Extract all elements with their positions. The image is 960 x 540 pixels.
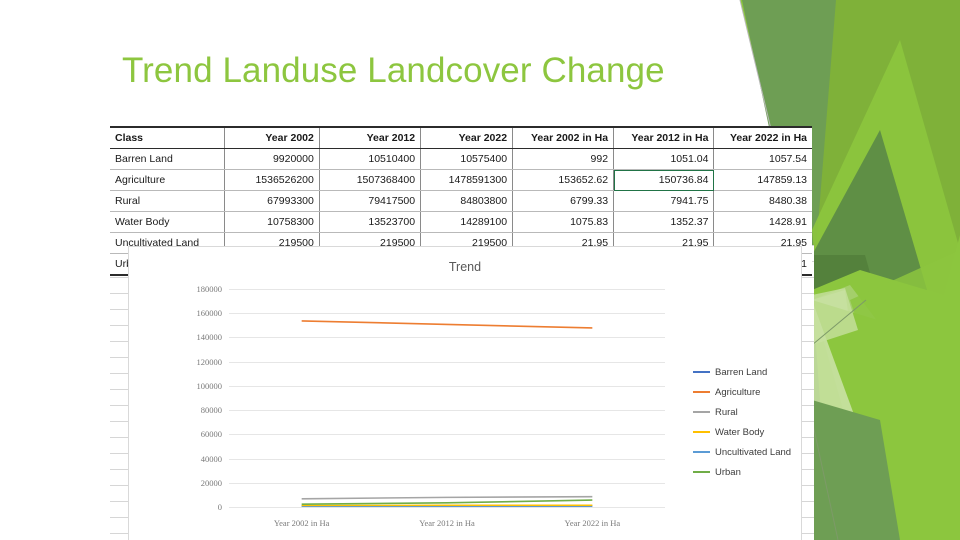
deco-shape-4	[812, 40, 960, 540]
table-cell-class[interactable]: Rural	[110, 191, 224, 212]
worksheet-row-line	[110, 533, 128, 534]
chart-gridline	[229, 386, 665, 387]
worksheet-row-line	[800, 277, 814, 278]
table-cell-y2022ha[interactable]: 8480.38	[714, 191, 812, 212]
table-cell-y2002[interactable]: 9920000	[224, 149, 319, 170]
deco-shape-6	[812, 255, 900, 540]
table-cell-y2022ha[interactable]: 147859.13	[714, 170, 812, 191]
legend-swatch-icon	[693, 471, 710, 473]
chart-gridline	[229, 362, 665, 363]
legend-label: Urban	[715, 467, 741, 478]
y-axis-tick-label: 60000	[201, 429, 222, 439]
worksheet-strip-left[interactable]	[110, 245, 128, 540]
table-cell-y2022ha[interactable]: 1428.91	[714, 212, 812, 233]
y-axis-tick-label: 80000	[201, 405, 222, 415]
legend-item[interactable]: Agriculture	[693, 382, 797, 402]
trend-line-chart[interactable]: Trend 0200004000060000800001000001200001…	[128, 246, 802, 540]
legend-swatch-icon	[693, 391, 710, 393]
table-cell-y2022[interactable]: 1478591300	[421, 170, 513, 191]
table-cell-y2002ha[interactable]: 153652.62	[513, 170, 614, 191]
worksheet-row-line	[110, 373, 128, 374]
deco-shape-10	[812, 300, 960, 540]
table-cell-y2012ha[interactable]: 7941.75	[614, 191, 714, 212]
col-header-year-2002[interactable]: Year 2002	[224, 127, 319, 149]
presentation-slide: Trend Landuse Landcover Change Class Yea…	[0, 0, 960, 540]
worksheet-row-line	[800, 453, 814, 454]
page-title: Trend Landuse Landcover Change	[122, 50, 665, 92]
table-cell-selected[interactable]: 150736.84	[614, 170, 714, 191]
chart-gridline	[229, 459, 665, 460]
table-row[interactable]: Barren Land99200001051040010575400992105…	[110, 149, 812, 170]
chart-series-line-urban	[302, 500, 593, 504]
legend-swatch-icon	[693, 371, 710, 373]
worksheet-row-line	[800, 533, 814, 534]
chart-series-line-agriculture	[302, 321, 593, 328]
chart-plot-area: 0200004000060000800001000001200001400001…	[229, 289, 665, 507]
table-cell-y2002[interactable]: 10758300	[224, 212, 319, 233]
table-row[interactable]: Agriculture15365262001507368400147859130…	[110, 170, 812, 191]
legend-label: Uncultivated Land	[715, 447, 791, 458]
worksheet-row-line	[800, 293, 814, 294]
deco-hairline-3	[812, 420, 838, 540]
worksheet-row-line	[800, 357, 814, 358]
worksheet-row-line	[800, 517, 814, 518]
worksheet-row-line	[800, 501, 814, 502]
table-cell-class[interactable]: Barren Land	[110, 149, 224, 170]
worksheet-row-line	[110, 469, 128, 470]
table-cell-class[interactable]: Water Body	[110, 212, 224, 233]
legend-item[interactable]: Water Body	[693, 422, 797, 442]
table-cell-y2002[interactable]: 1536526200	[224, 170, 319, 191]
worksheet-row-line	[110, 453, 128, 454]
table-cell-y2012[interactable]: 1507368400	[319, 170, 420, 191]
chart-gridline	[229, 313, 665, 314]
col-header-year-2022[interactable]: Year 2022	[421, 127, 513, 149]
table-cell-class[interactable]: Agriculture	[110, 170, 224, 191]
x-axis-tick-label: Year 2002 in Ha	[274, 518, 330, 528]
y-axis-tick-label: 180000	[197, 284, 223, 294]
table-cell-y2002ha[interactable]: 6799.33	[513, 191, 614, 212]
legend-item[interactable]: Urban	[693, 462, 797, 482]
legend-label: Water Body	[715, 427, 764, 438]
chart-gridline	[229, 434, 665, 435]
worksheet-row-line	[800, 469, 814, 470]
worksheet-row-line	[110, 485, 128, 486]
deco-shape-8	[812, 285, 960, 540]
deco-shape-11	[812, 400, 900, 540]
table-cell-y2012[interactable]: 10510400	[319, 149, 420, 170]
worksheet-row-line	[800, 405, 814, 406]
col-header-year-2012-in-ha[interactable]: Year 2012 in Ha	[614, 127, 714, 149]
table-header-row: Class Year 2002 Year 2012 Year 2022 Year…	[110, 127, 812, 149]
table-cell-y2002ha[interactable]: 1075.83	[513, 212, 614, 233]
table-cell-y2022[interactable]: 10575400	[421, 149, 513, 170]
chart-series-line-rural	[302, 497, 593, 499]
legend-label: Barren Land	[715, 367, 767, 378]
chart-gridline	[229, 289, 665, 290]
table-cell-y2002[interactable]: 67993300	[224, 191, 319, 212]
worksheet-row-line	[110, 437, 128, 438]
worksheet-row-line	[800, 373, 814, 374]
chart-legend[interactable]: Barren LandAgricultureRuralWater BodyUnc…	[693, 362, 797, 482]
col-header-year-2012[interactable]: Year 2012	[319, 127, 420, 149]
deco-shape-3	[812, 0, 960, 540]
legend-item[interactable]: Uncultivated Land	[693, 442, 797, 462]
deco-shape-7	[812, 270, 960, 540]
worksheet-row-line	[110, 389, 128, 390]
chart-title: Trend	[129, 260, 801, 274]
worksheet-row-line	[110, 309, 128, 310]
worksheet-row-line	[110, 501, 128, 502]
table-row[interactable]: Water Body1075830013523700142891001075.8…	[110, 212, 812, 233]
deco-hairline-2	[812, 300, 866, 345]
col-header-class[interactable]: Class	[110, 127, 224, 149]
deco-shape-12	[850, 250, 960, 540]
col-header-year-2002-in-ha[interactable]: Year 2002 in Ha	[513, 127, 614, 149]
worksheet-row-line	[110, 325, 128, 326]
y-axis-tick-label: 0	[218, 502, 222, 512]
worksheet-row-line	[800, 437, 814, 438]
legend-swatch-icon	[693, 451, 710, 453]
legend-swatch-icon	[693, 431, 710, 433]
worksheet-row-line	[110, 277, 128, 278]
worksheet-row-line	[800, 341, 814, 342]
worksheet-row-line	[110, 421, 128, 422]
chart-gridline	[229, 507, 665, 508]
worksheet-row-line	[110, 341, 128, 342]
table-cell-y2002ha[interactable]: 992	[513, 149, 614, 170]
y-axis-tick-label: 40000	[201, 454, 222, 464]
worksheet-row-line	[800, 421, 814, 422]
legend-item[interactable]: Barren Land	[693, 362, 797, 382]
chart-gridline	[229, 410, 665, 411]
y-axis-tick-label: 120000	[197, 357, 223, 367]
x-axis-tick-label: Year 2012 in Ha	[419, 518, 475, 528]
deco-shape-5	[812, 130, 930, 540]
deco-shape-13	[812, 288, 858, 345]
table-cell-y2022[interactable]: 84803800	[421, 191, 513, 212]
worksheet-row-line	[110, 405, 128, 406]
table-cell-y2012ha[interactable]: 1051.04	[614, 149, 714, 170]
worksheet-row-line	[800, 309, 814, 310]
chart-gridline	[229, 337, 665, 338]
legend-label: Rural	[715, 407, 738, 418]
y-axis-tick-label: 140000	[197, 332, 223, 342]
table-cell-y2012ha[interactable]: 1352.37	[614, 212, 714, 233]
worksheet-row-line	[110, 357, 128, 358]
worksheet-row-line	[800, 325, 814, 326]
worksheet-row-line	[110, 517, 128, 518]
col-header-year-2022-in-ha[interactable]: Year 2022 in Ha	[714, 127, 812, 149]
legend-label: Agriculture	[715, 387, 760, 398]
y-axis-tick-label: 100000	[197, 381, 223, 391]
chart-series-layer	[229, 289, 665, 507]
y-axis-tick-label: 160000	[197, 308, 223, 318]
worksheet-strip-right[interactable]	[800, 245, 814, 540]
legend-item[interactable]: Rural	[693, 402, 797, 422]
table-cell-y2022[interactable]: 14289100	[421, 212, 513, 233]
x-axis-tick-label: Year 2022 in Ha	[565, 518, 621, 528]
table-cell-y2012[interactable]: 79417500	[319, 191, 420, 212]
worksheet-row-line	[800, 389, 814, 390]
deco-shape-9	[812, 290, 880, 540]
legend-swatch-icon	[693, 411, 710, 413]
chart-gridline	[229, 483, 665, 484]
table-cell-y2022ha[interactable]: 1057.54	[714, 149, 812, 170]
worksheet-row-line	[800, 485, 814, 486]
table-row[interactable]: Rural6799330079417500848038006799.337941…	[110, 191, 812, 212]
worksheet-row-line	[110, 293, 128, 294]
table-cell-y2012[interactable]: 13523700	[319, 212, 420, 233]
y-axis-tick-label: 20000	[201, 478, 222, 488]
